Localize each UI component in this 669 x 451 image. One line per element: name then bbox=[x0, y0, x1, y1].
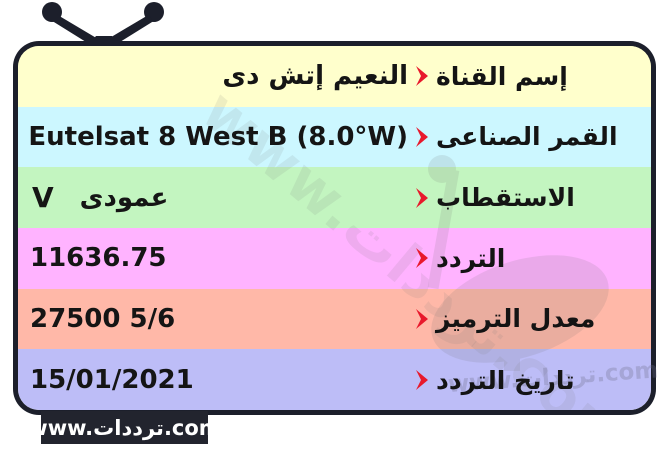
table-row-satellite: القمر الصناعى Eutelsat 8 West B (8.0°W) bbox=[18, 107, 651, 168]
row-value-polarization: عمودى V bbox=[18, 184, 408, 212]
table-row-frequency-date: تاريخ التردد 15/01/2021 bbox=[18, 349, 651, 410]
footer-site-badge: www.ترددات.com bbox=[41, 411, 208, 444]
row-label-satellite: القمر الصناعى bbox=[436, 124, 651, 149]
chevron-right-icon bbox=[408, 183, 436, 213]
polarization-word: عمودى bbox=[80, 185, 169, 211]
tv-screen: www.ترددات.com إسم القناة النعيم إتش دى … bbox=[18, 46, 651, 410]
chevron-right-icon bbox=[408, 304, 436, 334]
chevron-right-icon bbox=[408, 243, 436, 273]
row-value-satellite: Eutelsat 8 West B (8.0°W) bbox=[18, 124, 408, 150]
row-label-polarization: الاستقطاب bbox=[436, 185, 651, 210]
chevron-right-icon bbox=[408, 122, 436, 152]
polarization-letter: V bbox=[32, 184, 54, 212]
chevron-right-icon bbox=[408, 365, 436, 395]
row-label-frequency-date: تاريخ التردد bbox=[436, 368, 651, 393]
screenshot-root: www.ترددات.com إسم القناة النعيم إتش دى … bbox=[0, 0, 669, 451]
table-row-frequency: التردد 11636.75 bbox=[18, 228, 651, 289]
row-value-symbol-rate: 27500 5/6 bbox=[18, 306, 408, 332]
chevron-right-icon bbox=[408, 61, 436, 91]
row-label-symbol-rate: معدل الترميز bbox=[436, 306, 651, 331]
table-row-channel-name: إسم القناة النعيم إتش دى bbox=[18, 46, 651, 107]
tv-frame: www.ترددات.com إسم القناة النعيم إتش دى … bbox=[13, 41, 656, 415]
table-row-symbol-rate: معدل الترميز 27500 5/6 bbox=[18, 289, 651, 350]
row-label-frequency: التردد bbox=[436, 246, 651, 271]
row-value-frequency-date: 15/01/2021 bbox=[18, 367, 408, 393]
row-value-channel-name: النعيم إتش دى bbox=[18, 63, 408, 89]
row-label-channel-name: إسم القناة bbox=[436, 64, 651, 89]
row-value-frequency: 11636.75 bbox=[18, 245, 408, 271]
table-row-polarization: الاستقطاب عمودى V bbox=[18, 167, 651, 228]
